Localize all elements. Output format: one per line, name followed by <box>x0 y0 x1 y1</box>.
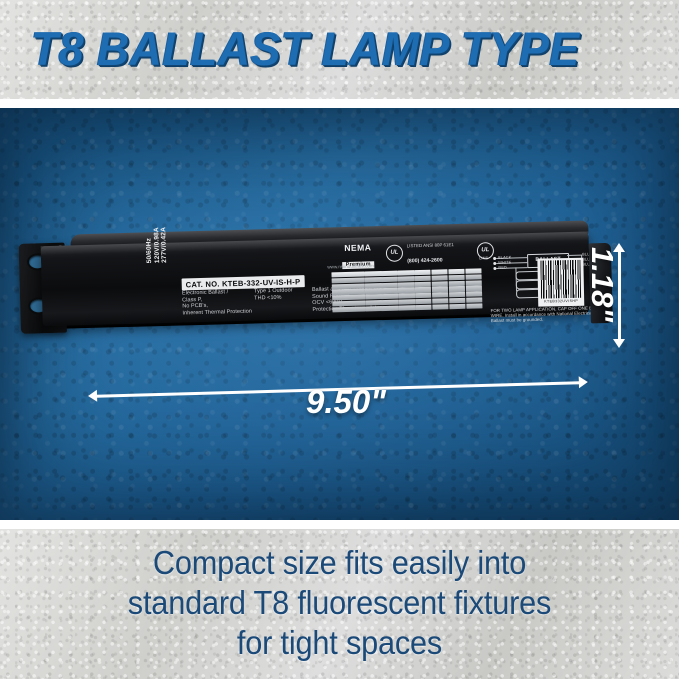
header-band: T8 BALLAST LAMP TYPE <box>0 0 679 99</box>
arrow-head-right-icon <box>579 376 588 388</box>
ul-mark-icon: UL <box>386 244 403 261</box>
ul-listed-text: LISTED ANSI 80P 61E1 <box>407 242 454 248</box>
width-dimension-label: 9.50" <box>306 383 386 421</box>
nema-wordmark: NEMA <box>337 243 379 253</box>
header-divider <box>0 99 679 108</box>
barcode-text: KTEB332UVISHP <box>541 299 581 304</box>
caption-text: Compact size fits easily into standard T… <box>24 543 655 663</box>
footer-band: Compact size fits easily into standard T… <box>0 529 679 679</box>
spec-cell <box>254 307 312 315</box>
product-photo-panel: 50/60Hz 120V/0.98A 277V/0.42A CAT. NO. K… <box>0 108 679 520</box>
barcode-bars <box>540 260 581 299</box>
barcode-label: KTEB332UVISHP <box>537 258 584 307</box>
height-dimension-label: 1.18" <box>584 247 620 322</box>
ballast-product: 50/60Hz 120V/0.98A 277V/0.42A CAT. NO. K… <box>18 220 601 366</box>
rating-277v: 277V/0.42A <box>160 227 169 263</box>
page-title: T8 BALLAST LAMP TYPE <box>31 18 630 80</box>
caption-line-1: Compact size fits easily into <box>24 543 655 583</box>
arrow-head-down-icon <box>613 339 625 348</box>
support-phone: (800) 424-2600 <box>407 257 443 264</box>
wiring-line <box>567 255 581 256</box>
lamp-spec-table <box>331 268 482 316</box>
wiring-label-red: RED <box>498 264 507 269</box>
ballast-label-face: 50/60Hz 120V/0.98A 277V/0.42A CAT. NO. K… <box>41 231 591 326</box>
caption-line-2: standard T8 fluorescent fixtures <box>24 583 655 623</box>
electrical-ratings: 50/60Hz 120V/0.98A 277V/0.42A <box>145 227 169 263</box>
spec-cell: Inherent Thermal Protection <box>182 308 254 317</box>
caption-line-3: for tight spaces <box>24 623 655 663</box>
infographic-page: T8 BALLAST LAMP TYPE 50/60 <box>0 0 679 679</box>
wiring-label-line: LINE <box>479 255 488 260</box>
footer-divider <box>0 520 679 529</box>
